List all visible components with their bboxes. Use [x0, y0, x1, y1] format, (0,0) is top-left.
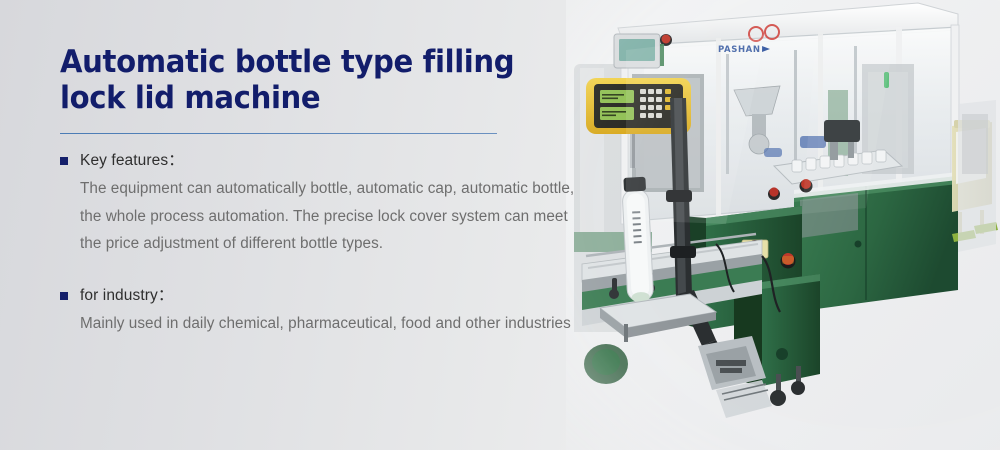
banner-content: Automatic bottle type filling lock lid m…: [60, 44, 600, 337]
feature-body-text: Mainly used in daily chemical, pharmaceu…: [60, 310, 585, 338]
product-banner: PASHAN: [0, 0, 1000, 450]
square-bullet-icon: [60, 292, 68, 300]
square-bullet-icon: [60, 157, 68, 165]
page-title: Automatic bottle type filling lock lid m…: [60, 44, 568, 116]
feature-heading-label: for industry：: [80, 286, 173, 306]
feature-heading-label: Key features：: [80, 151, 184, 171]
machine-photo-image: PASHAN: [566, 0, 1000, 450]
machine-photo: PASHAN: [566, 0, 1000, 450]
feature-heading-row: Key features：: [60, 151, 600, 171]
feature-body-text: The equipment can automatically bottle, …: [60, 175, 592, 258]
title-divider: [60, 133, 497, 134]
feature-block-for-industry: for industry： Mainly used in daily chemi…: [60, 286, 600, 338]
feature-block-key-features: Key features： The equipment can automati…: [60, 151, 600, 258]
feature-heading-row: for industry：: [60, 286, 600, 306]
